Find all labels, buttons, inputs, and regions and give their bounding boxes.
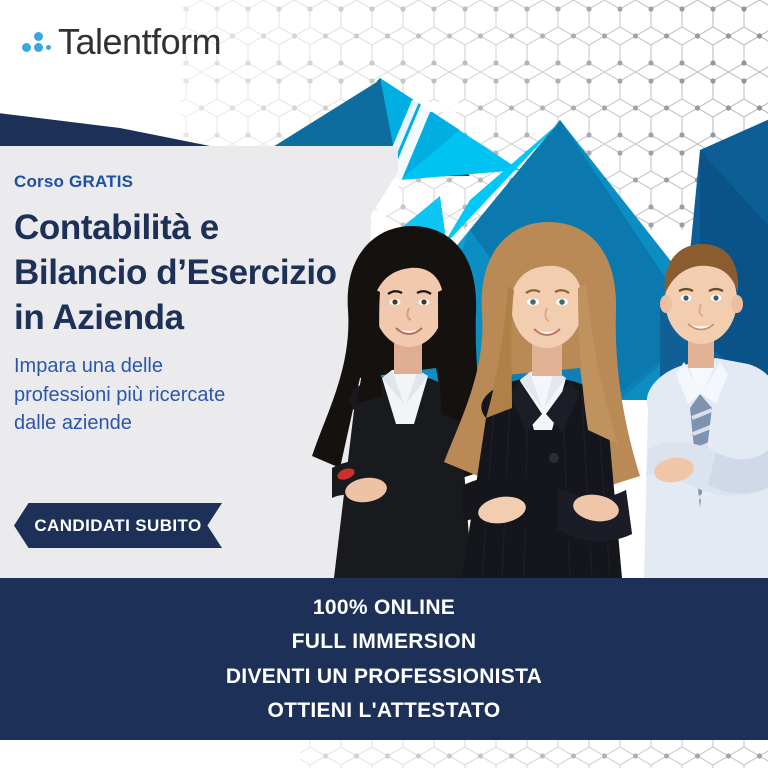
headline-line-3: in Azienda	[14, 296, 374, 341]
subcopy-line-2: professioni più ricercate	[14, 381, 374, 409]
subcopy-line-1: Impara una delle	[14, 352, 374, 380]
benefit-line-2: FULL IMMERSION	[292, 626, 477, 658]
advertisement-banner: Talentform	[0, 0, 768, 768]
apply-now-button[interactable]: CANDIDATI SUBITO	[14, 503, 222, 548]
benefit-line-4: OTTIENI L'ATTESTATO	[267, 695, 500, 727]
benefits-band: 100% ONLINE FULL IMMERSION DIVENTI UN PR…	[0, 578, 768, 740]
page-title: Contabilità e Bilancio d’Esercizio in Az…	[14, 206, 374, 340]
promo-copy: Corso GRATIS Contabilità e Bilancio d’Es…	[14, 172, 374, 438]
benefit-line-3: DIVENTI UN PROFESSIONISTA	[226, 661, 542, 693]
headline-line-1: Contabilità e	[14, 206, 374, 251]
four-dots-icon	[22, 29, 52, 55]
brand-name: Talentform	[58, 24, 221, 60]
eyebrow-label: Corso GRATIS	[14, 172, 374, 192]
person-man	[644, 244, 768, 578]
headline-line-2: Bilancio d’Esercizio	[14, 251, 374, 296]
brand-logo[interactable]: Talentform	[22, 24, 221, 60]
person-woman-blonde	[444, 222, 640, 578]
subcopy-line-3: dalle aziende	[14, 409, 374, 437]
benefit-line-1: 100% ONLINE	[313, 592, 455, 624]
promo-subcopy: Impara una delle professioni più ricerca…	[14, 352, 374, 437]
